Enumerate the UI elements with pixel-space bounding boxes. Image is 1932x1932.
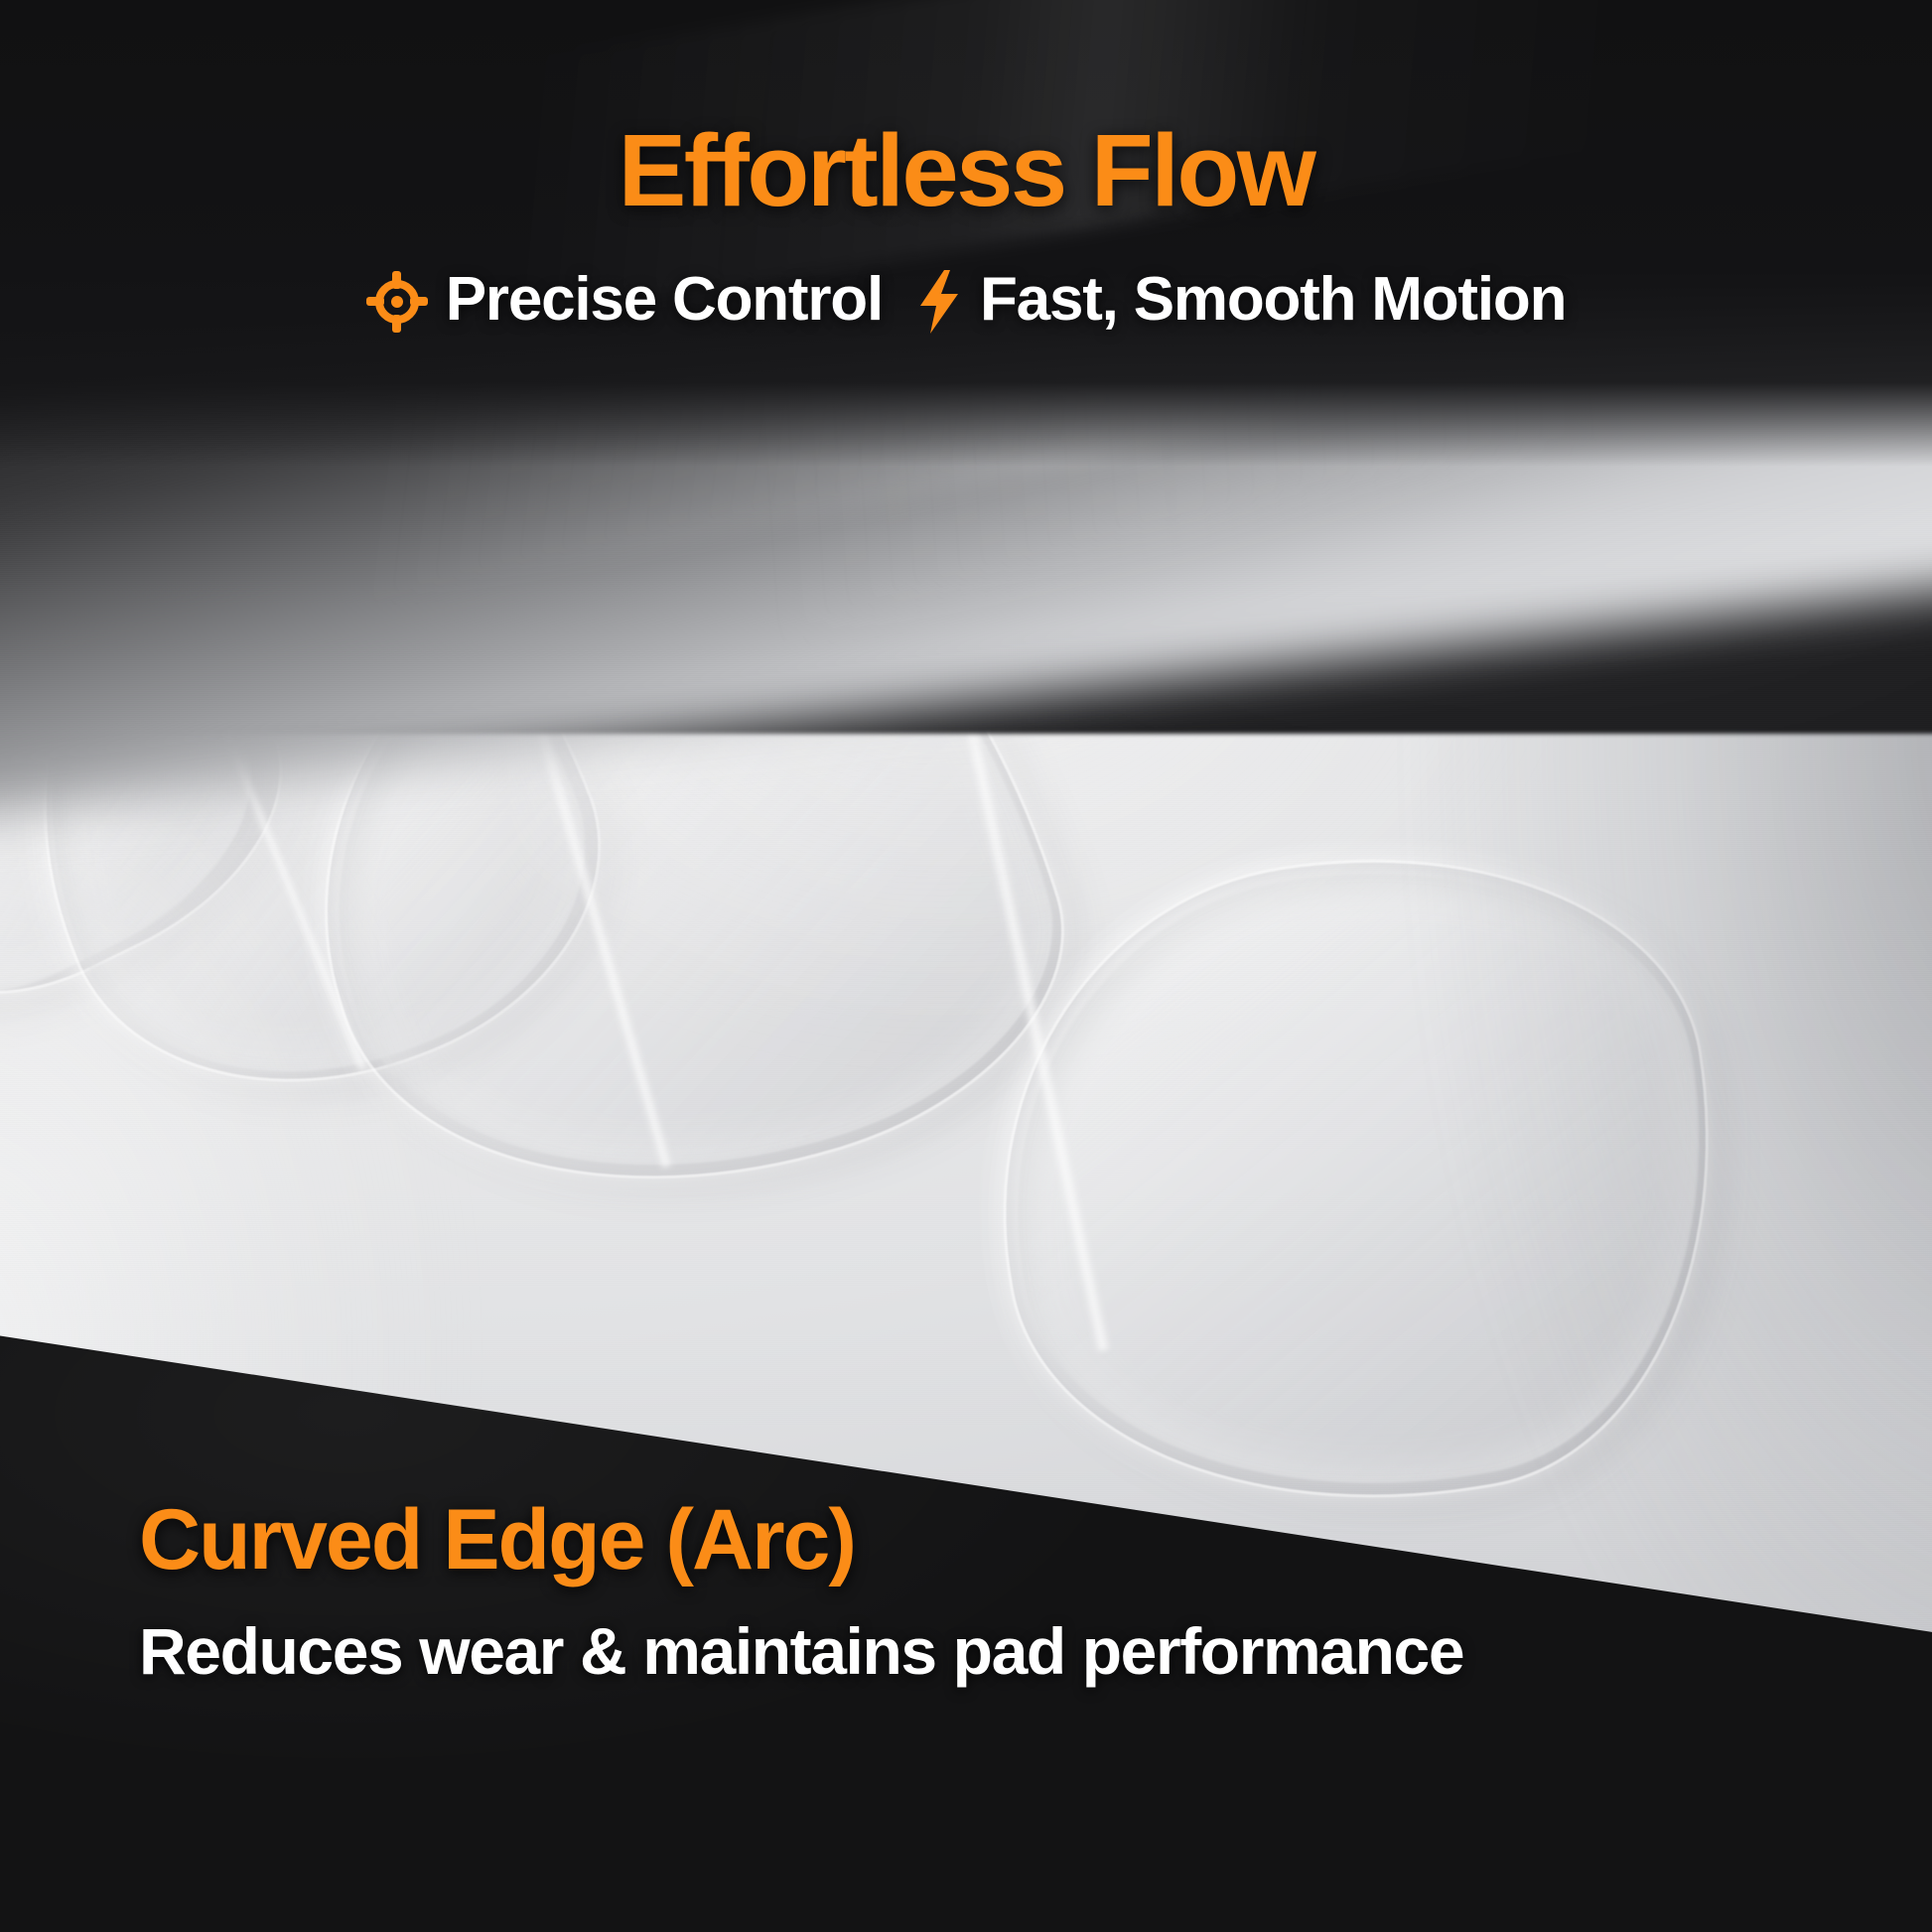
bottom-headline: Curved Edge (Arc) <box>139 1497 855 1583</box>
feature-item-fast-smooth-motion: Fast, Smooth Motion <box>916 266 1566 334</box>
lightning-bolt-icon <box>916 270 962 334</box>
feature-label-fast-smooth-motion: Fast, Smooth Motion <box>980 269 1566 331</box>
feature-row: Precise Control Fast, Smooth Motion <box>0 266 1932 334</box>
feature-item-precise-control: Precise Control <box>366 268 883 333</box>
target-crosshair-icon <box>366 271 428 333</box>
text-overlay-layer: Effortless Flow Precise Control <box>0 0 1932 1932</box>
feature-label-precise-control: Precise Control <box>446 269 883 331</box>
marketing-image-canvas: Effortless Flow Precise Control <box>0 0 1932 1932</box>
top-headline: Effortless Flow <box>0 119 1932 221</box>
bottom-subline: Reduces wear & maintains pad performance <box>139 1618 1463 1684</box>
